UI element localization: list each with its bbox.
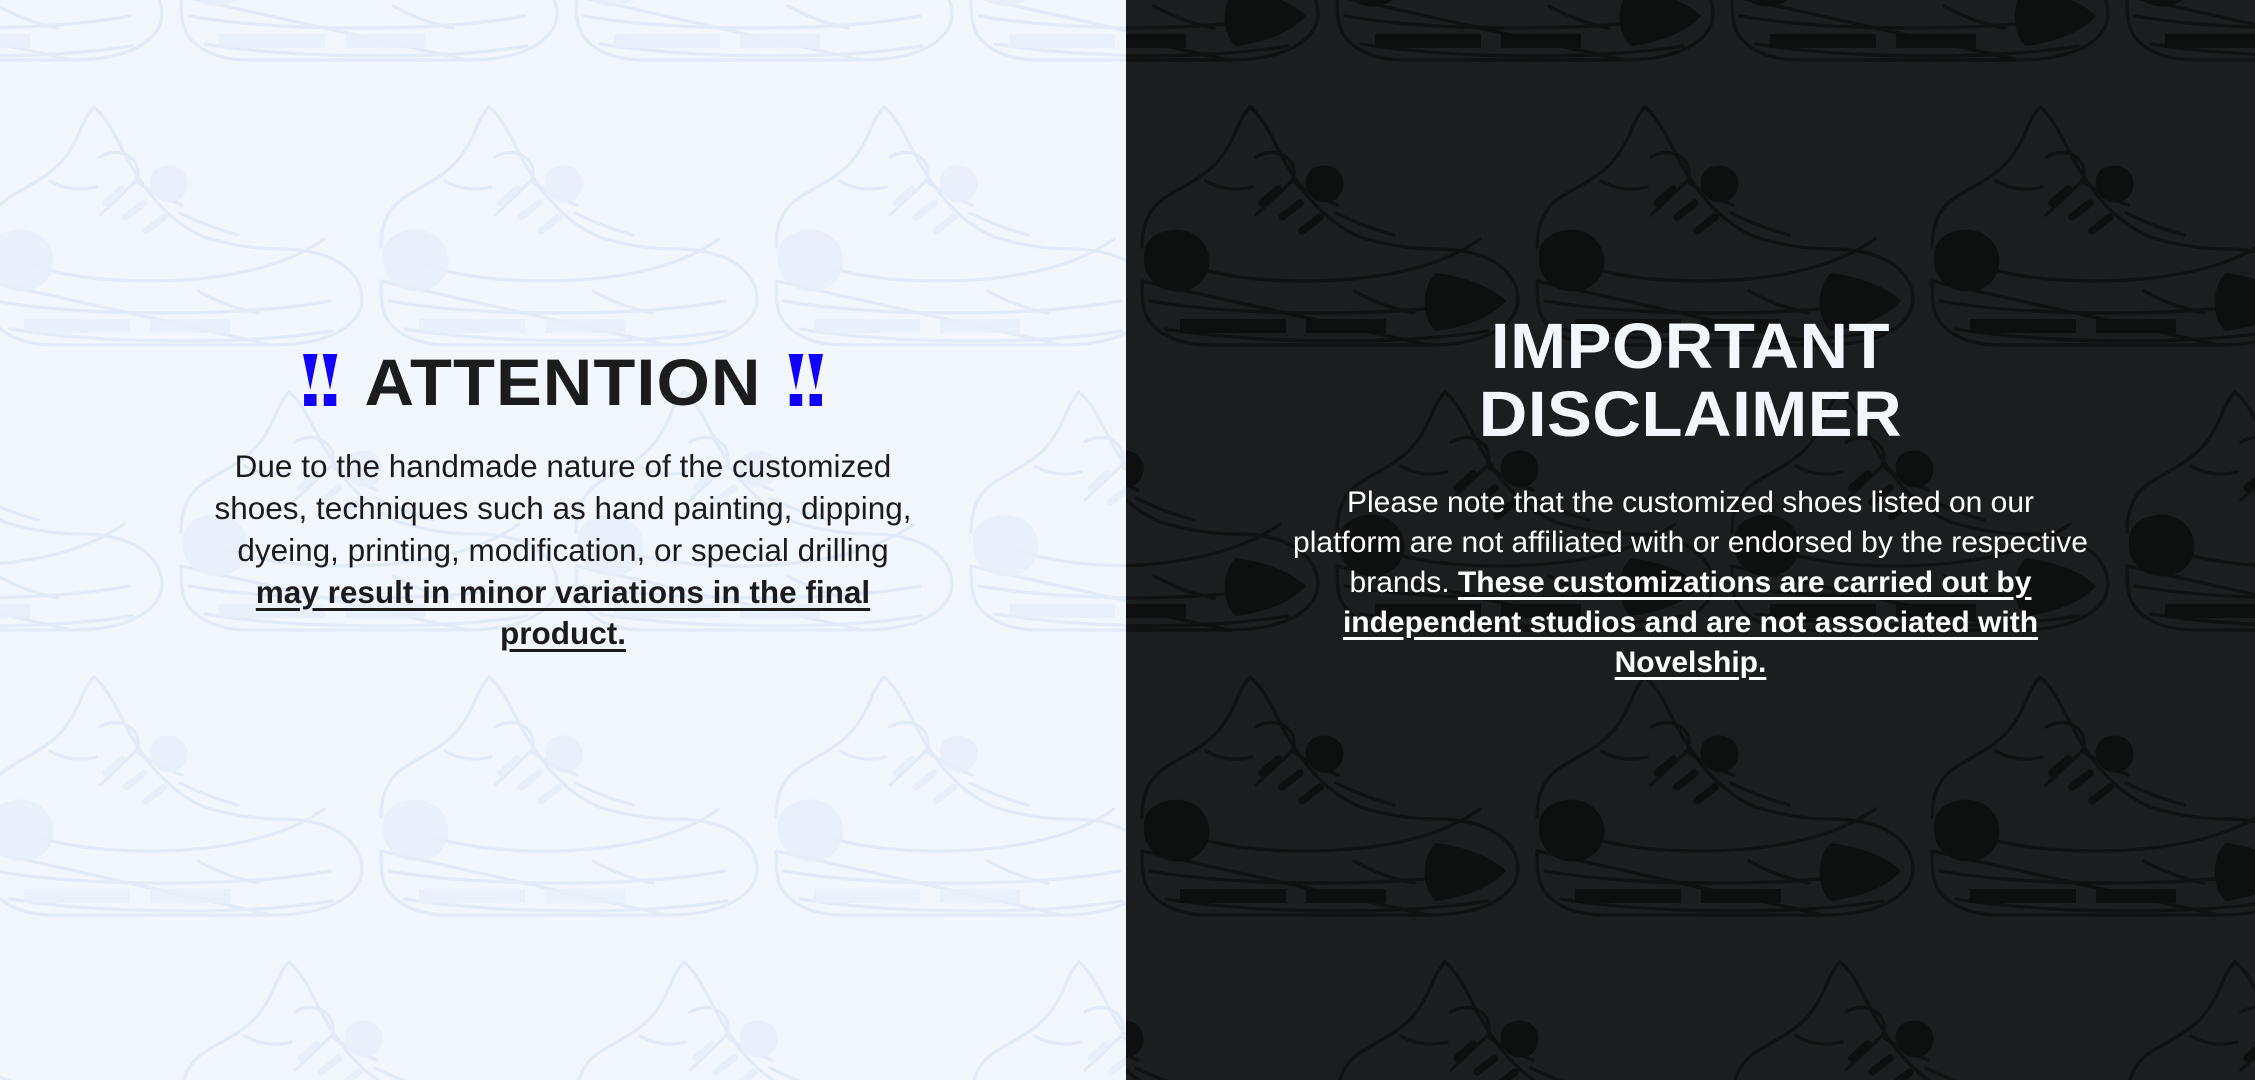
double-exclamation-mark-icon-right [789, 354, 823, 406]
disclaimer-content: IMPORTANT DISCLAIMER Please note that th… [1126, 313, 2255, 682]
attention-body: Due to the handmade nature of the custom… [213, 446, 913, 655]
attention-heading-label: ATTENTION [364, 349, 761, 416]
disclaimer-heading: IMPORTANT DISCLAIMER [1140, 313, 2241, 449]
disclaimer-panel: IMPORTANT DISCLAIMER Please note that th… [1126, 0, 2255, 1080]
disclaimer-body: Please note that the customized shoes li… [1291, 483, 2091, 682]
attention-content: ATTENTION Due to the handmade nature of … [0, 349, 1126, 656]
disclaimer-banner: ATTENTION Due to the handmade nature of … [0, 0, 2255, 1080]
attention-heading: ATTENTION [19, 349, 1107, 416]
disclaimer-heading-line2: DISCLAIMER [1479, 378, 1902, 450]
double-exclamation-mark-icon-left [303, 354, 337, 406]
attention-panel: ATTENTION Due to the handmade nature of … [0, 0, 1126, 1080]
attention-body-normal: Due to the handmade nature of the custom… [215, 448, 912, 568]
attention-body-emphasis: may result in minor variations in the fi… [256, 574, 870, 652]
disclaimer-heading-line1: IMPORTANT [1491, 310, 1890, 382]
